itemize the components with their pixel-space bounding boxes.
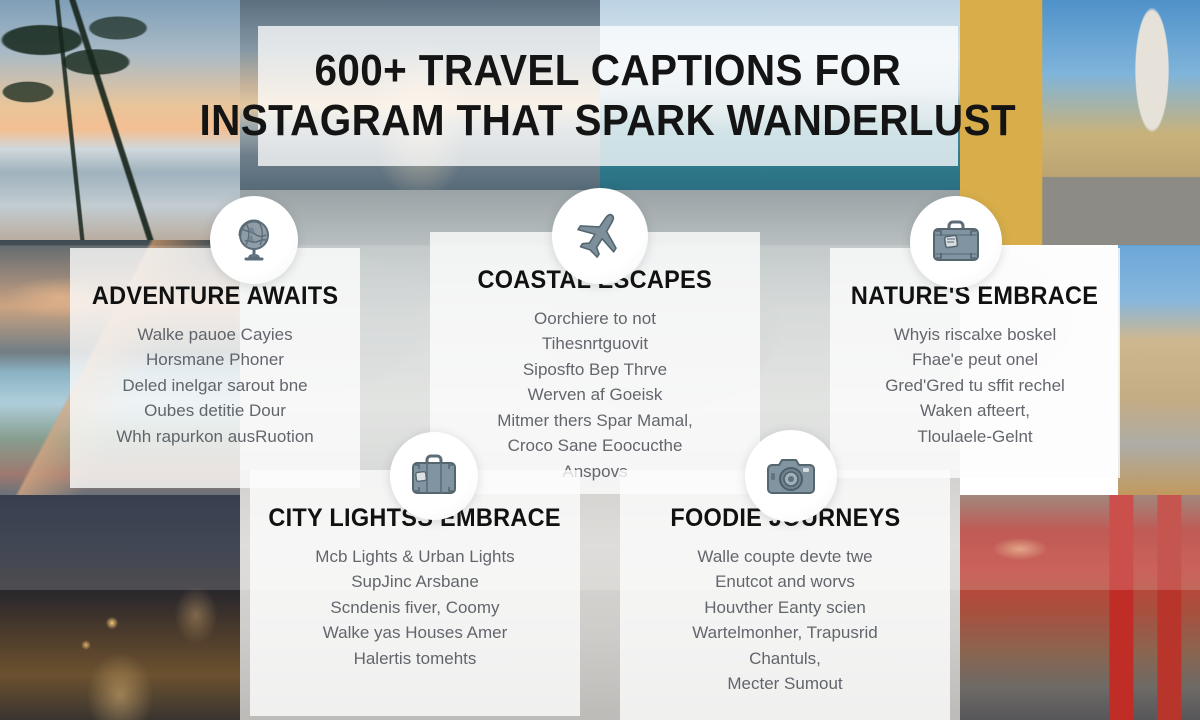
card-coastal-body: Oorchiere to not Tihesnrtguovit Siposfto… <box>497 307 693 483</box>
card-coastal-line-4: Werven af Goeisk <box>528 383 663 406</box>
infographic-canvas: 600+ TRAVEL CAPTIONS FOR INSTAGRAM THAT … <box>0 0 1200 720</box>
card-adventure-line-4: Oubes detitie Dour <box>144 399 286 422</box>
camera-icon-badge <box>745 430 837 522</box>
card-nature-line-2: Fhae'e peut onel <box>912 348 1038 371</box>
page-title-line-2: INSTAGRAM THAT SPARK WANDERLUST <box>200 96 1016 146</box>
card-adventure-line-3: Deled inelgar sarout bne <box>122 374 307 397</box>
card-adventure[interactable]: ADVENTURE AWAITS Walke pauoe Cayies Hors… <box>70 248 360 488</box>
card-city-line-2: SupJinc Arsbane <box>351 570 479 593</box>
card-foodie-line-3: Houvther Eanty scien <box>704 596 866 619</box>
card-foodie-line-2: Enutcot and worvs <box>715 570 855 593</box>
card-coastal-line-1: Oorchiere to not <box>534 307 656 330</box>
globe-icon-badge <box>210 196 298 284</box>
card-city-line-4: Walke yas Houses Amer <box>323 621 508 644</box>
card-foodie-line-4: Wartelmonher, Trapusrid <box>692 621 878 644</box>
airplane-icon-badge <box>552 188 648 284</box>
card-nature-line-5: Tloulaele-Gelnt <box>917 425 1032 448</box>
card-city-body: Mcb Lights & Urban Lights SupJinc Arsban… <box>315 545 514 670</box>
card-nature-line-3: Gred'Gred tu sffit rechel <box>885 374 1065 397</box>
suitcase-icon <box>929 218 983 266</box>
airplane-icon <box>572 208 628 264</box>
card-coastal-line-6: Croco Sane Eoocucthe <box>508 434 683 457</box>
card-nature-title: NATURE'S EMBRACE <box>851 282 1098 311</box>
suitcase-icon-badge-city <box>390 432 478 520</box>
card-foodie-line-1: Walle coupte devte twe <box>697 545 872 568</box>
card-adventure-title: ADVENTURE AWAITS <box>92 282 339 311</box>
card-coastal-line-5: Mitmer thers Spar Mamal, <box>497 409 693 432</box>
globe-icon <box>227 213 281 267</box>
card-nature-line-4: Waken afteert, <box>920 399 1030 422</box>
page-title-line-1: 600+ TRAVEL CAPTIONS FOR <box>315 46 902 96</box>
card-coastal-line-3: Siposfto Bep Thrve <box>523 358 667 381</box>
card-coastal-line-2: Tihesnrtguovit <box>542 332 648 355</box>
card-adventure-body: Walke pauoe Cayies Horsmane Phoner Deled… <box>116 323 314 448</box>
card-city-line-5: Halertis tomehts <box>354 647 477 670</box>
card-adventure-line-5: Whh rapurkon ausRuotion <box>116 425 314 448</box>
card-adventure-line-2: Horsmane Phoner <box>146 348 284 371</box>
camera-icon <box>763 453 819 499</box>
card-foodie-line-6: Mecter Sumout <box>727 672 842 695</box>
card-foodie-line-5: Chantuls, <box>749 647 821 670</box>
card-adventure-line-1: Walke pauoe Cayies <box>137 323 292 346</box>
card-city-line-1: Mcb Lights & Urban Lights <box>315 545 514 568</box>
suitcase-icon <box>408 453 460 499</box>
card-foodie-body: Walle coupte devte twe Enutcot and worvs… <box>692 545 878 696</box>
page-title: 600+ TRAVEL CAPTIONS FOR INSTAGRAM THAT … <box>258 26 958 166</box>
suitcase-icon-badge-nature <box>910 196 1002 288</box>
card-nature-body: Whyis riscalxe boskel Fhae'e peut onel G… <box>885 323 1065 448</box>
card-city-line-3: Scndenis fiver, Coomy <box>330 596 499 619</box>
card-nature-line-1: Whyis riscalxe boskel <box>894 323 1057 346</box>
